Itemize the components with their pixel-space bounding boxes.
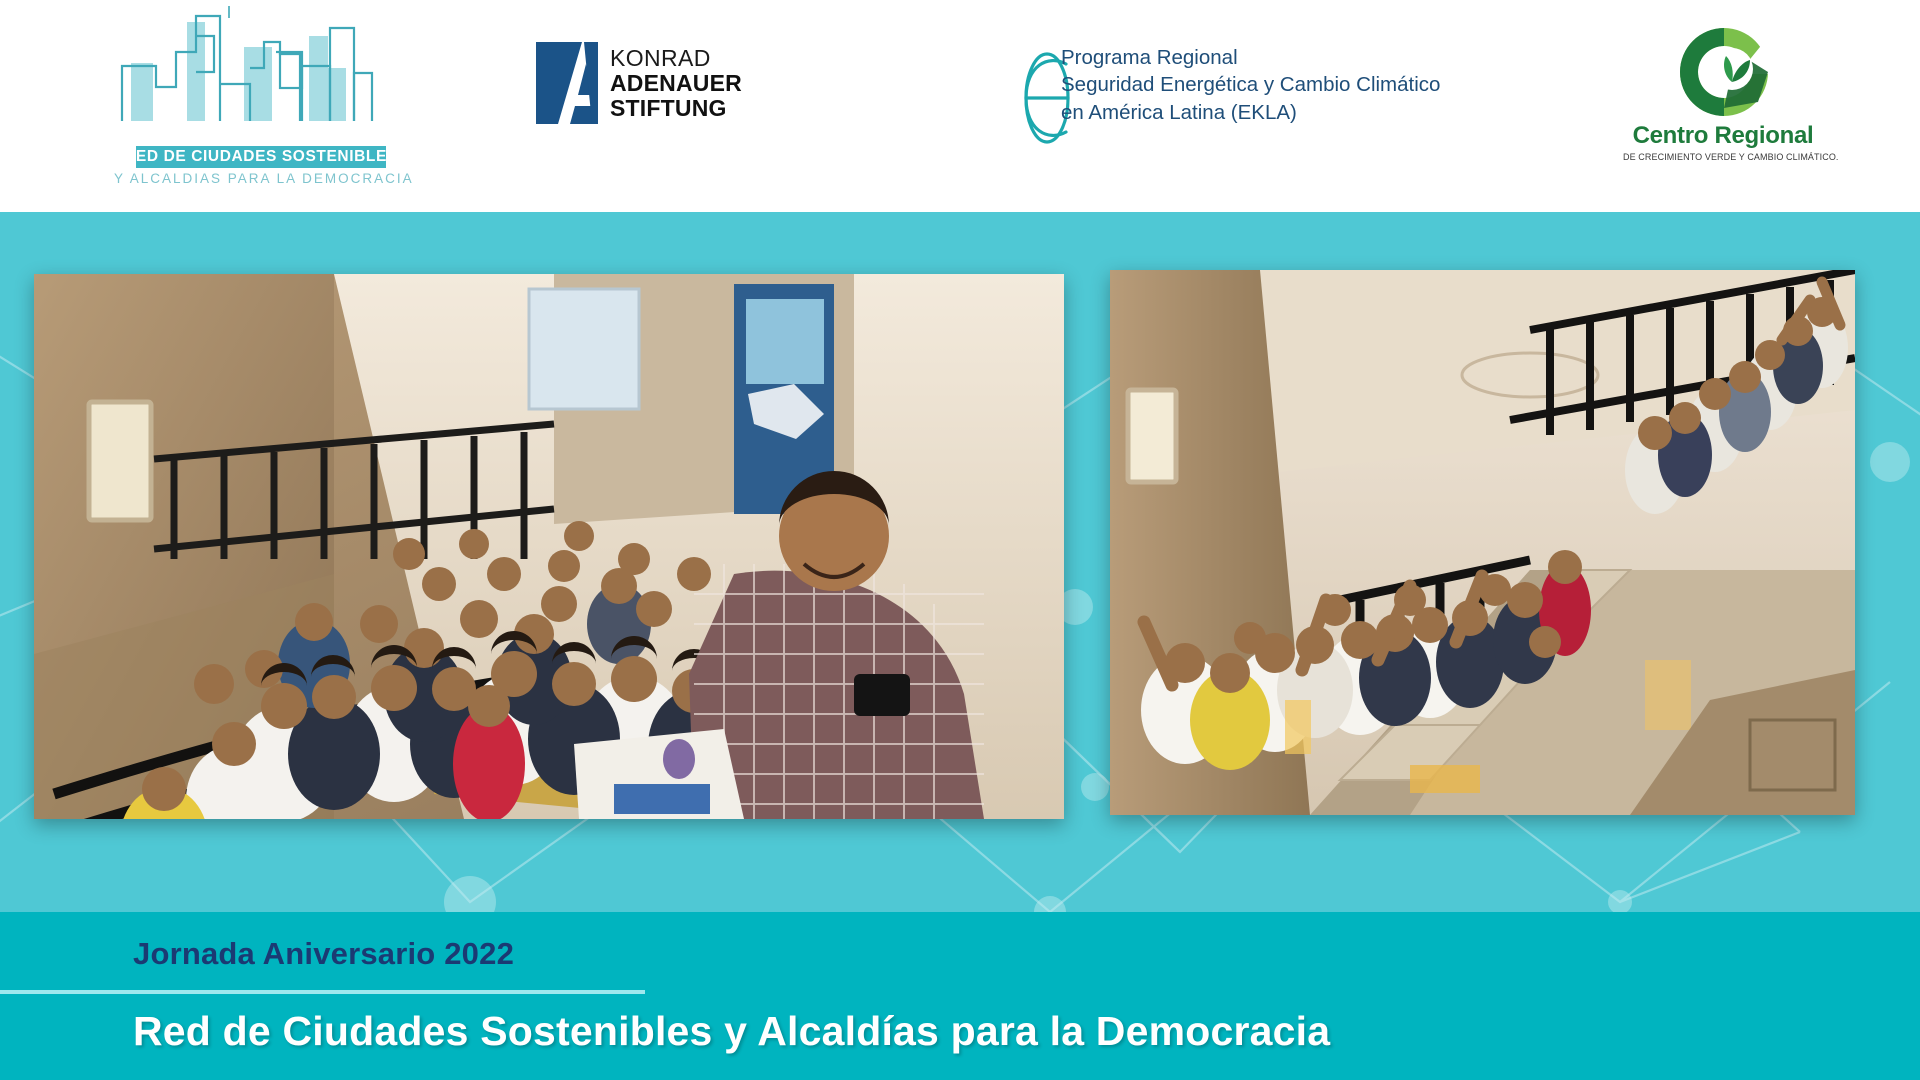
kas-a-mark-icon	[536, 42, 598, 124]
rcs-name-bar: RED DE CIUDADES SOSTENIBLES	[136, 146, 386, 168]
ekla-line-3: en América Latina (EKLA)	[1061, 99, 1441, 126]
centro-regional-name: Centro Regional	[1623, 122, 1823, 150]
centro-regional-subtitle: DE CRECIMIENTO VERDE Y CAMBIO CLIMÁTICO.	[1623, 152, 1823, 162]
photo-right-artwork	[1110, 270, 1855, 815]
kas-line-stiftung: STIFTUNG	[610, 97, 742, 120]
header-bar: RED DE CIUDADES SOSTENIBLES Y ALCALDIAS …	[0, 0, 1920, 212]
banner-divider	[0, 990, 645, 994]
poster-root: RED DE CIUDADES SOSTENIBLES Y ALCALDIAS …	[0, 0, 1920, 1080]
rcs-name-text: RED DE CIUDADES SOSTENIBLES	[124, 148, 398, 166]
logo-red-ciudades-sostenibles: RED DE CIUDADES SOSTENIBLES Y ALCALDIAS …	[104, 6, 414, 198]
ekla-line-1: Programa Regional	[1061, 44, 1441, 71]
bottom-banner: Jornada Aniversario 2022 Red de Ciudades…	[0, 912, 1920, 1080]
kas-line-konrad: KONRAD	[610, 47, 742, 70]
photo-group-stairs-left	[34, 274, 1064, 819]
green-c-leaf-icon	[1676, 24, 1772, 120]
logo-konrad-adenauer-stiftung: KONRAD ADENAUER STIFTUNG	[536, 42, 766, 124]
banner-title: Red de Ciudades Sostenibles y Alcaldías …	[133, 1008, 1330, 1055]
kas-line-adenauer: ADENAUER	[610, 72, 742, 95]
photo-left-artwork	[34, 274, 1064, 819]
banner-kicker: Jornada Aniversario 2022	[133, 936, 514, 972]
photo-stage	[0, 212, 1920, 912]
logo-centro-regional: Centro Regional DE CRECIMIENTO VERDE Y C…	[1623, 24, 1823, 188]
city-skyline-icon	[104, 6, 414, 146]
photo-group-stairs-right	[1110, 270, 1855, 815]
rcs-subtitle: Y ALCALDIAS PARA LA DEMOCRACIA	[114, 171, 409, 186]
ekla-line-2: Seguridad Energética y Cambio Climático	[1061, 71, 1441, 98]
logo-ekla-programa-regional: Programa Regional Seguridad Energética y…	[1018, 40, 1278, 155]
